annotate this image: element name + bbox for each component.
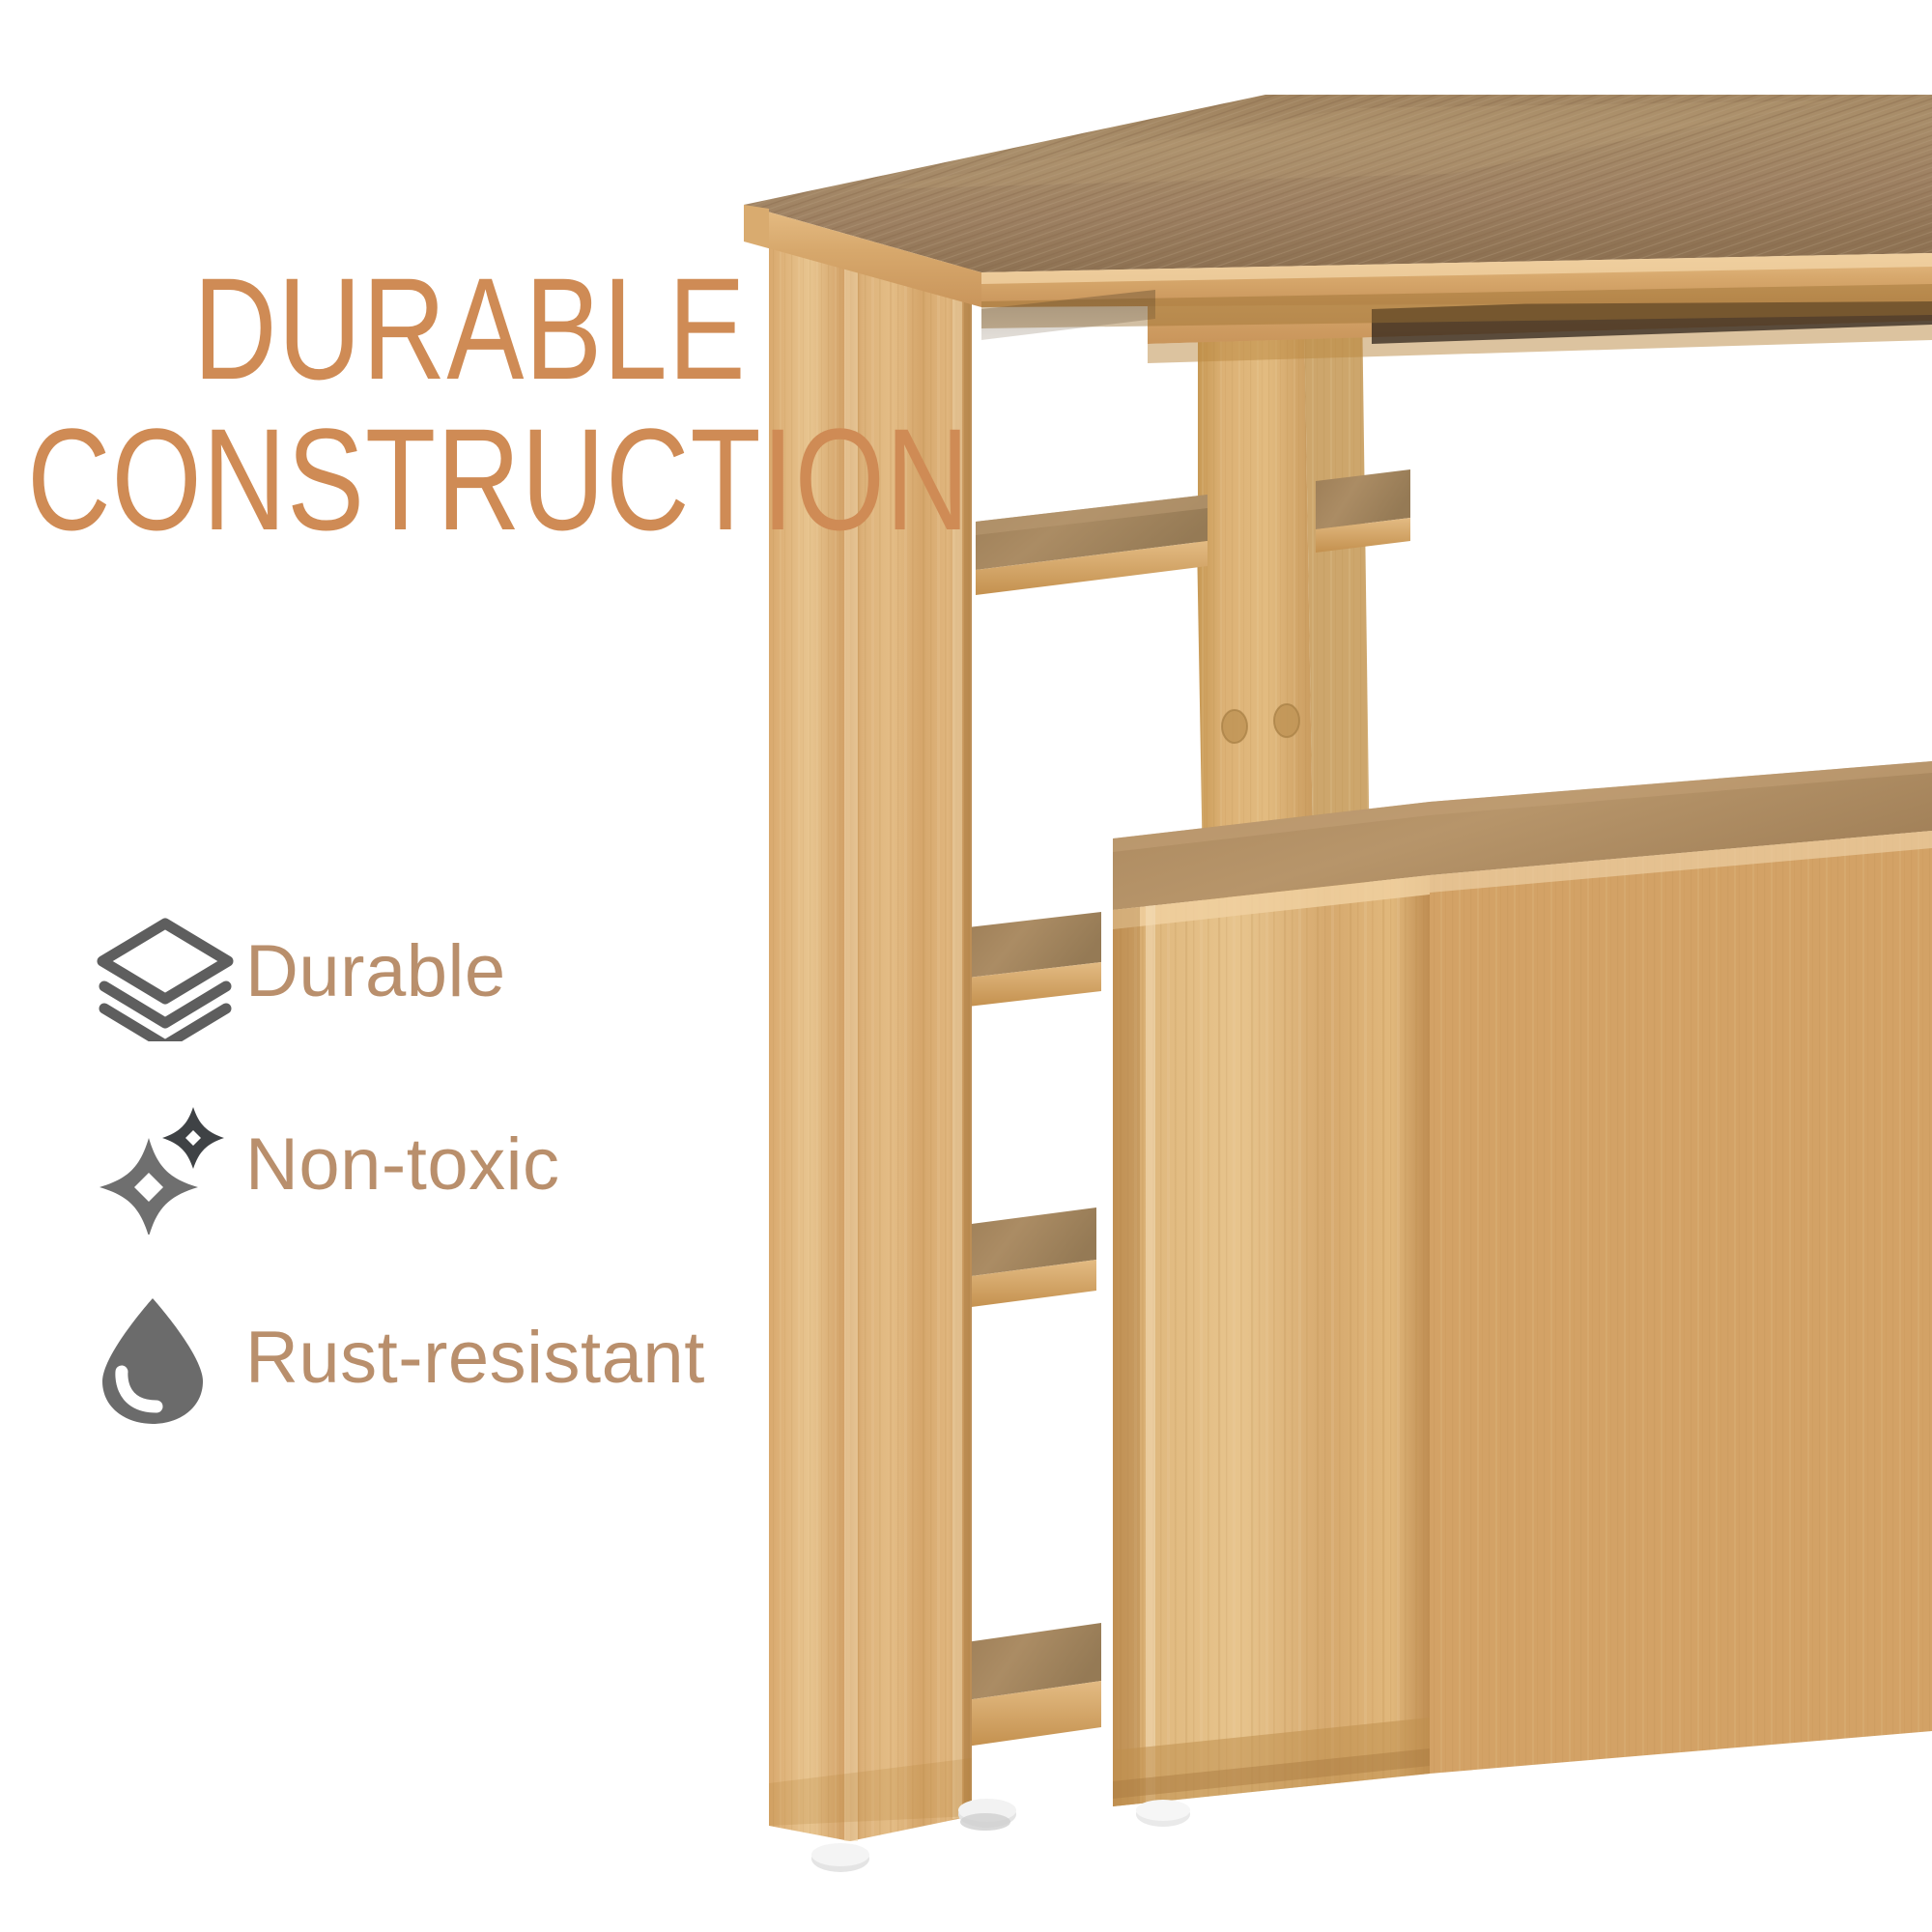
headline-line-2: CONSTRUCTION (27, 404, 630, 554)
upper-shelf-board (976, 469, 1410, 595)
feature-label-non-toxic: Non-toxic (245, 1107, 560, 1223)
feature-list: Durable Non-toxic Rust-res (93, 898, 827, 1478)
feature-item-rust-resistant: Rust-resistant (93, 1285, 827, 1478)
upper-shelf-recess (985, 276, 1198, 522)
page-title: DURABLE CONSTRUCTION (27, 253, 630, 554)
feature-item-non-toxic: Non-toxic (93, 1092, 827, 1285)
water-drop-icon (93, 1285, 247, 1435)
furniture-feet (811, 1799, 1190, 1872)
feature-item-durable: Durable (93, 898, 827, 1092)
sparkle-icon (93, 1092, 247, 1241)
upper-apron-rail (1148, 259, 1932, 363)
feature-label-durable: Durable (245, 914, 506, 1030)
headline-line-1: DURABLE (27, 253, 630, 404)
layers-icon (93, 898, 247, 1048)
cabinet-box (1113, 761, 1932, 1806)
rear-upright-post (1193, 301, 1372, 1036)
product-feature-banner: DURABLE CONSTRUCTION Durable (0, 0, 1932, 1932)
lower-shelf-board (964, 1207, 1096, 1308)
table-top (744, 95, 1932, 328)
mid-shelf-board (968, 912, 1101, 1007)
feature-label-rust-resistant: Rust-resistant (245, 1300, 705, 1416)
under-top-shadow (981, 290, 1155, 340)
bottom-shelf-board (966, 1623, 1932, 1747)
